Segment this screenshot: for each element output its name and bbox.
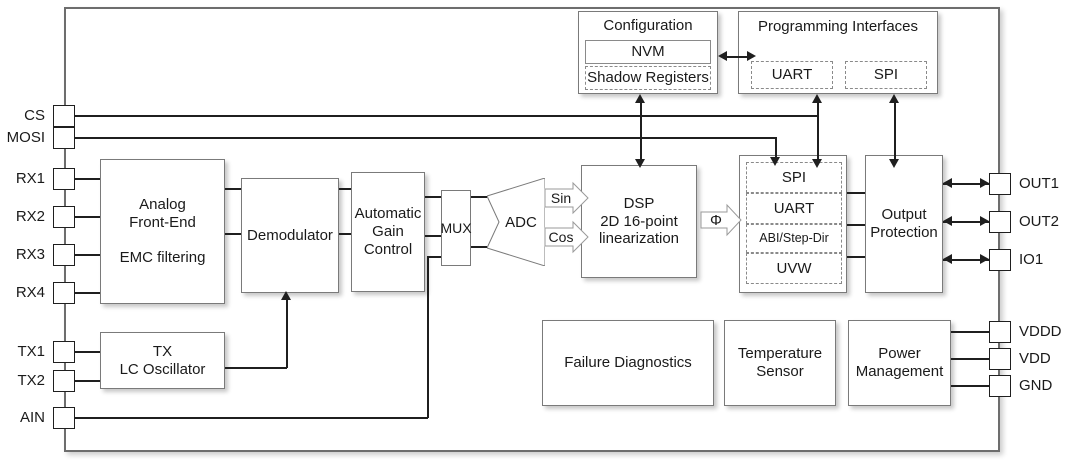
output-interface-uart[interactable]: UART <box>746 193 842 224</box>
afe-line-2: Front-End <box>125 214 200 232</box>
tx-osc-line-2: LC Oscillator <box>116 361 210 379</box>
afe-line-1: Analog <box>135 196 190 214</box>
wire-gnd <box>951 385 989 387</box>
wire-tx1 <box>75 351 100 353</box>
wire-txosc-up <box>286 300 288 368</box>
wire-rx3 <box>75 254 100 256</box>
arrow-config-dsp-down <box>635 159 645 168</box>
wire-mux-adc-bottom <box>471 246 487 248</box>
dsp-line-1: DSP <box>620 195 659 213</box>
arrow-txosc-to-demod <box>281 291 291 300</box>
pin-label-tx2: TX2 <box>0 372 45 389</box>
wire-oif-op-2 <box>847 224 865 226</box>
pin-label-rx2: RX2 <box>0 208 45 225</box>
programming-interfaces-spi[interactable]: SPI <box>845 61 927 89</box>
wire-config-progif <box>727 56 747 58</box>
arrow-io1-left <box>943 254 952 264</box>
arrow-out1-left <box>943 178 952 188</box>
output-interface-abi-step-dir[interactable]: ABI/Step-Dir <box>746 224 842 253</box>
wire-uart-link <box>817 103 819 159</box>
pin-label-mosi: MOSI <box>0 129 45 146</box>
block-analog-front-end[interactable]: Analog Front-End EMC filtering <box>100 159 225 304</box>
block-failure-diagnostics[interactable]: Failure Diagnostics <box>542 320 714 406</box>
pin-label-out2: OUT2 <box>1019 213 1059 230</box>
pin-pad-io1[interactable] <box>989 249 1011 271</box>
block-temperature-sensor[interactable]: Temperature Sensor <box>724 320 836 406</box>
arrow-config-dsp-up <box>635 94 645 103</box>
wire-rx4 <box>75 292 100 294</box>
wire-vdd <box>951 358 989 360</box>
block-power-management[interactable]: Power Management <box>848 320 951 406</box>
configuration-title: Configuration <box>579 17 717 35</box>
pin-label-io1: IO1 <box>1019 251 1043 268</box>
block-dsp[interactable]: DSP 2D 16-point linearization <box>581 165 697 278</box>
pin-label-out1: OUT1 <box>1019 175 1059 192</box>
block-adc[interactable]: ADC <box>487 178 545 266</box>
block-automatic-gain-control[interactable]: Automatic Gain Control <box>351 172 425 292</box>
output-interface-uvw[interactable]: UVW <box>746 253 842 284</box>
output-protection-line-1: Output <box>877 206 930 224</box>
pin-label-rx3: RX3 <box>0 246 45 263</box>
signal-label-cos: Cos <box>547 222 575 252</box>
arrow-spi-down <box>889 159 899 168</box>
pin-label-vddd: VDDD <box>1019 323 1062 340</box>
wire-mosi <box>75 137 776 139</box>
temperature-sensor-line-2: Sensor <box>752 363 808 381</box>
dsp-line-2: 2D 16-point <box>596 213 682 231</box>
block-output-interfaces[interactable]: SPI UART ABI/Step-Dir UVW <box>739 155 847 293</box>
wire-demod-agc-bottom <box>339 233 351 235</box>
power-management-line-2: Management <box>852 363 948 381</box>
wire-vddd <box>951 331 989 333</box>
adc-label: ADC <box>487 178 545 266</box>
pin-pad-vdd[interactable] <box>989 348 1011 370</box>
programming-interfaces-uart[interactable]: UART <box>751 61 833 89</box>
arrow-out2-left <box>943 216 952 226</box>
wire-rx2 <box>75 216 100 218</box>
wire-config-dsp <box>640 103 642 159</box>
pin-pad-rx3[interactable] <box>53 244 75 266</box>
demodulator-label: Demodulator <box>243 227 337 245</box>
temperature-sensor-line-1: Temperature <box>734 345 826 363</box>
pin-pad-rx2[interactable] <box>53 206 75 228</box>
wire-txosc-right <box>225 367 287 369</box>
wire-demod-agc-top <box>339 188 351 190</box>
output-protection-line-2: Protection <box>866 224 942 242</box>
wire-agc-mux-bottom <box>425 235 441 237</box>
wire-afe-demod-top <box>225 188 241 190</box>
arrow-io1-right <box>980 254 989 264</box>
wire-ain-to-mux <box>427 256 441 258</box>
power-management-line-1: Power <box>874 345 925 363</box>
wire-cs <box>75 115 818 117</box>
signal-label-sin: Sin <box>547 183 575 213</box>
wire-spi-link <box>894 103 896 159</box>
pin-pad-out2[interactable] <box>989 211 1011 233</box>
output-interface-spi[interactable]: SPI <box>746 162 842 193</box>
afe-line-3: EMC filtering <box>116 249 210 267</box>
pin-pad-mosi[interactable] <box>53 127 75 149</box>
wire-tx2 <box>75 380 100 382</box>
wire-oif-op-3 <box>847 256 865 258</box>
agc-line-3: Control <box>360 241 416 259</box>
wire-mux-adc-top <box>471 196 487 198</box>
configuration-nvm[interactable]: NVM <box>585 40 711 64</box>
pin-pad-rx1[interactable] <box>53 168 75 190</box>
arrow-progif-right <box>747 51 756 61</box>
failure-diagnostics-label: Failure Diagnostics <box>560 354 696 372</box>
pin-pad-rx4[interactable] <box>53 282 75 304</box>
wire-agc-mux-top <box>425 196 441 198</box>
pin-pad-out1[interactable] <box>989 173 1011 195</box>
pin-label-ain: AIN <box>0 409 45 426</box>
pin-pad-ain[interactable] <box>53 407 75 429</box>
pin-label-rx1: RX1 <box>0 170 45 187</box>
mux-label: MUX <box>436 220 475 237</box>
wire-mosi-drop <box>775 137 777 159</box>
pin-pad-tx2[interactable] <box>53 370 75 392</box>
wire-ain <box>75 417 428 419</box>
pin-label-rx4: RX4 <box>0 284 45 301</box>
wire-ain-up <box>427 256 429 418</box>
pin-label-tx1: TX1 <box>0 343 45 360</box>
wire-rx1 <box>75 178 100 180</box>
signal-label-phi: Φ <box>703 205 729 235</box>
pin-pad-tx1[interactable] <box>53 341 75 363</box>
arrow-out2-right <box>980 216 989 226</box>
dsp-line-3: linearization <box>595 230 683 248</box>
pin-pad-gnd[interactable] <box>989 375 1011 397</box>
wire-afe-demod-bottom <box>225 233 241 235</box>
programming-interfaces-title: Programming Interfaces <box>739 18 937 36</box>
block-mux[interactable]: MUX <box>441 190 471 266</box>
agc-line-2: Gain <box>368 223 408 241</box>
pin-label-gnd: GND <box>1019 377 1052 394</box>
pin-pad-vddd[interactable] <box>989 321 1011 343</box>
arrow-config-left <box>718 51 727 61</box>
pin-pad-cs[interactable] <box>53 105 75 127</box>
wire-oif-op-1 <box>847 192 865 194</box>
arrow-mosi-down <box>770 157 780 166</box>
arrow-uart-up <box>812 94 822 103</box>
arrow-out1-right <box>980 178 989 188</box>
block-programming-interfaces[interactable]: Programming Interfaces UART SPI <box>738 11 938 94</box>
arrow-spi-up <box>889 94 899 103</box>
tx-osc-line-1: TX <box>149 343 176 361</box>
pin-label-cs: CS <box>0 107 45 124</box>
block-configuration[interactable]: Configuration NVM Shadow Registers <box>578 11 718 94</box>
arrow-uart-down <box>812 159 822 168</box>
pin-label-vdd: VDD <box>1019 350 1051 367</box>
block-demodulator[interactable]: Demodulator <box>241 178 339 293</box>
block-output-protection[interactable]: Output Protection <box>865 155 943 293</box>
configuration-shadow-registers[interactable]: Shadow Registers <box>585 66 711 90</box>
block-tx-lc-oscillator[interactable]: TX LC Oscillator <box>100 332 225 389</box>
agc-line-1: Automatic <box>351 205 426 223</box>
block-diagram-canvas: CS MOSI RX1 RX2 RX3 RX4 TX1 TX2 AIN OUT1… <box>0 0 1074 462</box>
